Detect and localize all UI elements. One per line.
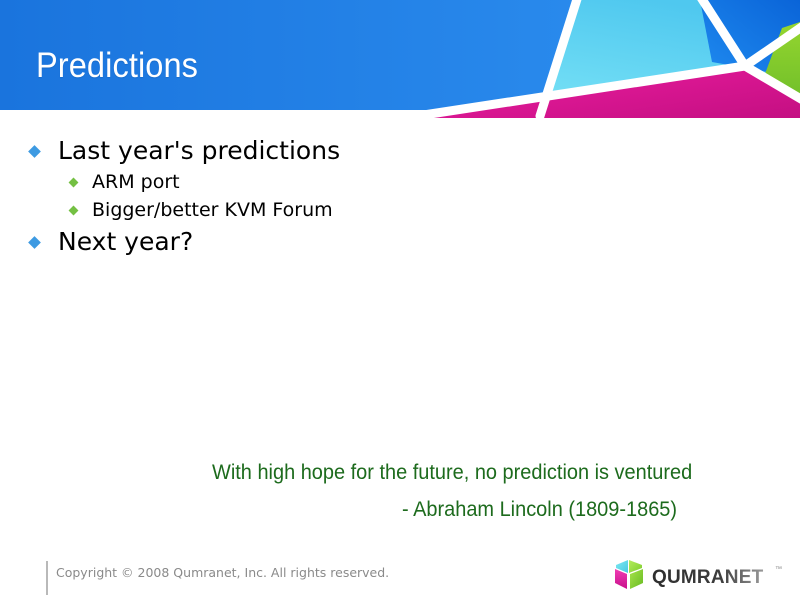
page-title: Predictions <box>36 46 198 86</box>
cube-face-right <box>630 569 643 589</box>
bullet-list: Last year's predictions ARM port Bigger/… <box>30 134 730 260</box>
logo-trademark-symbol: ™ <box>775 566 782 573</box>
quote-block: With high hope for the future, no predic… <box>212 460 772 522</box>
blue-diamond-bullet-icon <box>28 145 41 158</box>
qumranet-cube-logo-icon: QUMRANET ™ <box>612 557 787 595</box>
cube-face-left <box>615 569 627 589</box>
blue-diamond-bullet-icon <box>28 236 41 249</box>
slide-canvas: Predictions Last year's predictions ARM … <box>0 0 800 600</box>
quote-text: With high hope for the future, no predic… <box>212 460 706 485</box>
list-item-label: Last year's predictions <box>58 134 340 168</box>
quote-attribution: - Abraham Lincoln (1809-1865) <box>402 497 754 522</box>
green-diamond-bullet-icon <box>69 206 79 216</box>
logo-wordmark: QUMRANET <box>652 567 764 588</box>
list-item: Last year's predictions <box>30 134 730 168</box>
header-bottom-edge <box>0 110 430 118</box>
green-diamond-bullet-icon <box>69 178 79 188</box>
qumranet-logo: QUMRANET ™ <box>612 557 787 595</box>
list-item-label: Bigger/better KVM Forum <box>92 197 333 224</box>
footer-copyright: Copyright © 2008 Qumranet, Inc. All righ… <box>56 565 389 580</box>
list-item: Bigger/better KVM Forum <box>70 197 730 224</box>
list-item-label: Next year? <box>58 225 193 259</box>
list-item: Next year? <box>30 225 730 259</box>
footer-divider-tick <box>46 561 48 595</box>
list-item: ARM port <box>70 169 730 196</box>
list-item-label: ARM port <box>92 169 180 196</box>
